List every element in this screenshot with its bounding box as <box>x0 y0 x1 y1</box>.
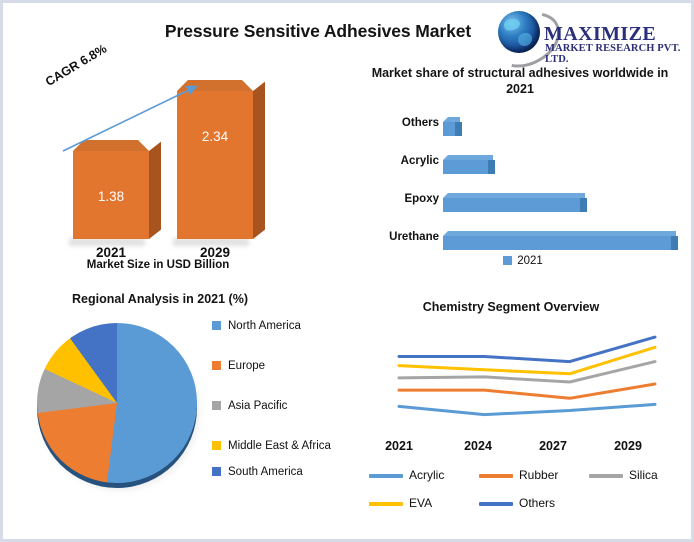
brand-tagline: MARKET RESEARCH PVT. LTD. <box>545 43 690 65</box>
legend-item-acrylic: Acrylic <box>369 465 444 487</box>
legend-swatch-2021 <box>503 256 512 265</box>
pie-graphic <box>33 319 203 489</box>
chemistry-segment-line-chart: Chemistry Segment Overview 2021 2024 202… <box>361 299 693 539</box>
legend-item-others: Others <box>479 493 555 515</box>
line-xtick-2024: 2024 <box>454 439 502 453</box>
legend-label-silica: Silica <box>629 468 658 482</box>
hbar-bar <box>443 155 488 174</box>
pie-legend-item: North America <box>212 319 352 333</box>
legend-swatch-south-america <box>212 467 221 476</box>
pie-legend-item: Asia Pacific <box>212 399 352 413</box>
hbar-row-acrylic: Acrylic <box>355 151 691 177</box>
line-series-acrylic <box>399 404 655 414</box>
legend-label-2021: 2021 <box>517 255 543 267</box>
line-chart-title: Chemistry Segment Overview <box>361 299 661 315</box>
legend-label-europe: Europe <box>228 360 265 372</box>
hbar-bar <box>443 231 671 250</box>
pie-legend-item: Europe <box>212 359 352 373</box>
legend-swatch-north-america <box>212 321 221 330</box>
page-title: Pressure Sensitive Adhesives Market <box>153 21 483 42</box>
hbar-category-label: Epoxy <box>365 193 439 205</box>
pie-legend-item: South America <box>212 465 352 479</box>
hbar-row-others: Others <box>355 113 691 139</box>
market-size-caption: Market Size in USD Billion <box>23 259 293 271</box>
legend-dash-eva <box>369 502 403 506</box>
legend-item-rubber: Rubber <box>479 465 558 487</box>
hbar-bar <box>443 117 455 136</box>
pie-legend-item: Middle East & Africa <box>212 439 352 453</box>
bar-category-2029: 2029 <box>173 245 257 260</box>
legend-label-rubber: Rubber <box>519 468 558 482</box>
legend-label-eva: EVA <box>409 496 432 510</box>
infographic-canvas: Pressure Sensitive Adhesives Market MAXI… <box>0 0 694 542</box>
legend-label-north-america: North America <box>228 320 301 332</box>
globe-icon <box>498 11 540 53</box>
bar-category-2021: 2021 <box>69 245 153 260</box>
legend-label-asia-pacific: Asia Pacific <box>228 400 287 412</box>
pie-slices <box>37 323 197 483</box>
market-size-column-chart: 1.38 2.34 CAGR 6.8% 2021 2029 Market Siz… <box>23 63 323 278</box>
brand-logo: MAXIMIZE MARKET RESEARCH PVT. LTD. <box>490 9 690 59</box>
legend-dash-silica <box>589 474 623 478</box>
pie-chart-title: Regional Analysis in 2021 (%) <box>15 291 305 307</box>
hbar-category-label: Urethane <box>365 231 439 243</box>
hbar-row-urethane: Urethane <box>355 227 691 253</box>
hbar-chart-title: Market share of structural adhesives wor… <box>365 65 675 97</box>
cagr-arrow-icon <box>57 79 217 157</box>
hbar-bar <box>443 193 580 212</box>
legend-dash-rubber <box>479 474 513 478</box>
legend-label-others: Others <box>519 496 555 510</box>
line-xtick-2027: 2027 <box>529 439 577 453</box>
hbar-legend: 2021 <box>355 255 691 267</box>
hbar-category-label: Acrylic <box>365 155 439 167</box>
legend-swatch-europe <box>212 361 221 370</box>
legend-item-eva: EVA <box>369 493 432 515</box>
regional-analysis-pie-chart: Regional Analysis in 2021 (%) North Amer… <box>15 291 353 539</box>
line-xtick-2021: 2021 <box>375 439 423 453</box>
legend-label-south-america: South America <box>228 466 303 478</box>
bar-value-label: 1.38 <box>73 189 149 204</box>
line-series-rubber <box>399 384 655 398</box>
bar-2021: 1.38 <box>73 151 149 239</box>
pie-legend: North America Europe Asia Pacific Middle… <box>212 319 352 479</box>
legend-item-silica: Silica <box>589 465 658 487</box>
hbar-row-epoxy: Epoxy <box>355 189 691 215</box>
legend-dash-acrylic <box>369 474 403 478</box>
line-xtick-2029: 2029 <box>604 439 652 453</box>
legend-swatch-asia-pacific <box>212 401 221 410</box>
legend-swatch-middle-east-africa <box>212 441 221 450</box>
legend-label-acrylic: Acrylic <box>409 468 444 482</box>
line-chart-plot <box>391 323 663 441</box>
legend-dash-others <box>479 502 513 506</box>
hbar-category-label: Others <box>365 117 439 129</box>
bar-side-face <box>253 82 265 239</box>
structural-adhesives-share-chart: Market share of structural adhesives wor… <box>355 65 691 280</box>
legend-label-middle-east-africa: Middle East & Africa <box>228 440 331 452</box>
